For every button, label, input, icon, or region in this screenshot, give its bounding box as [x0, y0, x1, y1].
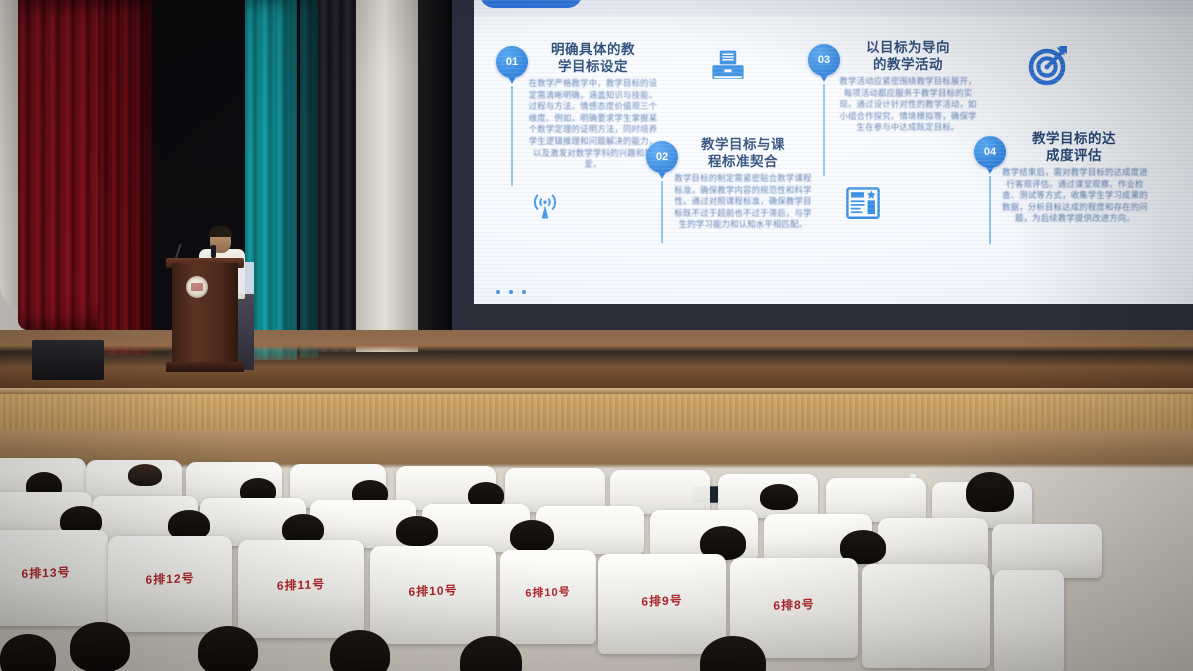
seat-back-labelled[interactable]: 6排12号 [108, 536, 232, 632]
connector-line-01 [511, 86, 513, 186]
audience-head [70, 622, 130, 671]
slide-item-heading-02: 教学目标与课 程标准契合 [676, 136, 810, 170]
slide-item-body-02: 教学目标的制定需紧密贴合数学课程标准，确保教学内容的规范性和科学性。通过对照课程… [672, 173, 814, 231]
printer-document-icon [706, 46, 750, 95]
wall-pillar [356, 0, 418, 352]
slide-header-bar [474, 0, 1193, 16]
seat-back [878, 518, 988, 570]
audience-head [128, 464, 162, 486]
audience-head [0, 634, 56, 671]
connector-line-02 [661, 181, 663, 243]
connector-line-03 [823, 84, 825, 176]
seat-back[interactable] [862, 564, 990, 668]
auditorium-scene: 国统教学目标… 01 明确具体的教 学目标设定 在数学严格教学中，教学目标的设定… [0, 0, 1193, 671]
pager-dot[interactable] [522, 290, 526, 294]
slide-item-body-04: 教学结束后，需对教学目标的达成度进行客观评估。通过课堂观察、作业检查、测试等方式… [1002, 167, 1148, 225]
seat-label: 6排8号 [730, 594, 858, 615]
audience-head [966, 472, 1014, 512]
red-curtain-inner [98, 0, 153, 355]
slide-item-body-01: 在数学严格教学中，教学目标的设定需清晰明确，涵盖知识与技能、过程与方法、情感态度… [526, 78, 660, 171]
handheld-microphone-icon [211, 245, 216, 258]
slide-header-tab [480, 0, 582, 8]
seat-back-labelled[interactable]: 6排11号 [238, 540, 364, 638]
projection-screen: 国统教学目标… 01 明确具体的教 学目标设定 在数学严格教学中，教学目标的设定… [474, 0, 1193, 304]
slide-item-number-02: 02 [646, 141, 678, 173]
presenter-hair [209, 226, 232, 237]
audience-head [198, 626, 258, 671]
podium-base [166, 362, 244, 372]
slide-item-heading-03: 以目标为导向 的教学活动 [838, 39, 978, 73]
slide-item-number-04: 04 [974, 136, 1006, 168]
slide-item-number-03: 03 [808, 44, 840, 76]
seat-label: 6排13号 [0, 562, 108, 583]
seat-back-labelled[interactable]: 6排10号 [370, 546, 496, 644]
dark-curtain [318, 0, 356, 352]
audience-head [396, 516, 438, 546]
seat-back-labelled[interactable]: 6排13号 [0, 530, 108, 626]
seat-label: 6排10号 [370, 580, 496, 601]
seat-label: 6排11号 [238, 574, 364, 595]
broadcast-antenna-icon [522, 184, 568, 235]
slide-item-heading-01: 明确具体的教 学目标设定 [526, 41, 660, 75]
pager-dot[interactable] [509, 290, 513, 294]
seat-label: 6排9号 [598, 590, 726, 611]
audience-head [760, 484, 798, 510]
audience-area: 6排13号 6排12号 6排11号 6排10号 6排10号 6排9号 6排8号 [0, 430, 1193, 671]
seat-back-labelled[interactable]: 6排10号 [500, 550, 596, 644]
seat-label: 6排10号 [500, 582, 596, 601]
pager-dot[interactable] [496, 290, 500, 294]
stage-loudspeaker [32, 340, 104, 380]
slide-body: 01 明确具体的教 学目标设定 在数学严格教学中，教学目标的设定需清晰明确，涵盖… [474, 16, 1193, 304]
slide-item-body-03: 教学活动应紧密围绕教学目标展开，每项活动都应服务于教学目标的实现。通过设计针对性… [836, 76, 980, 134]
slide-pager-dots[interactable] [496, 290, 526, 294]
presenter-legs [238, 292, 254, 370]
seat-back-labelled[interactable]: 6排9号 [598, 554, 726, 654]
slide-item-number-01: 01 [496, 46, 528, 78]
podium-crest-icon [186, 276, 208, 298]
audience-head [510, 520, 554, 552]
connector-line-04 [989, 176, 991, 244]
target-arrow-icon [1023, 40, 1075, 97]
report-star-icon [841, 182, 885, 231]
teal-curtain-edge [300, 0, 318, 358]
slide-item-heading-04: 教学目标的达 成度评估 [1004, 130, 1144, 164]
seat-label: 6排12号 [108, 568, 232, 589]
seat-back[interactable] [994, 570, 1064, 671]
